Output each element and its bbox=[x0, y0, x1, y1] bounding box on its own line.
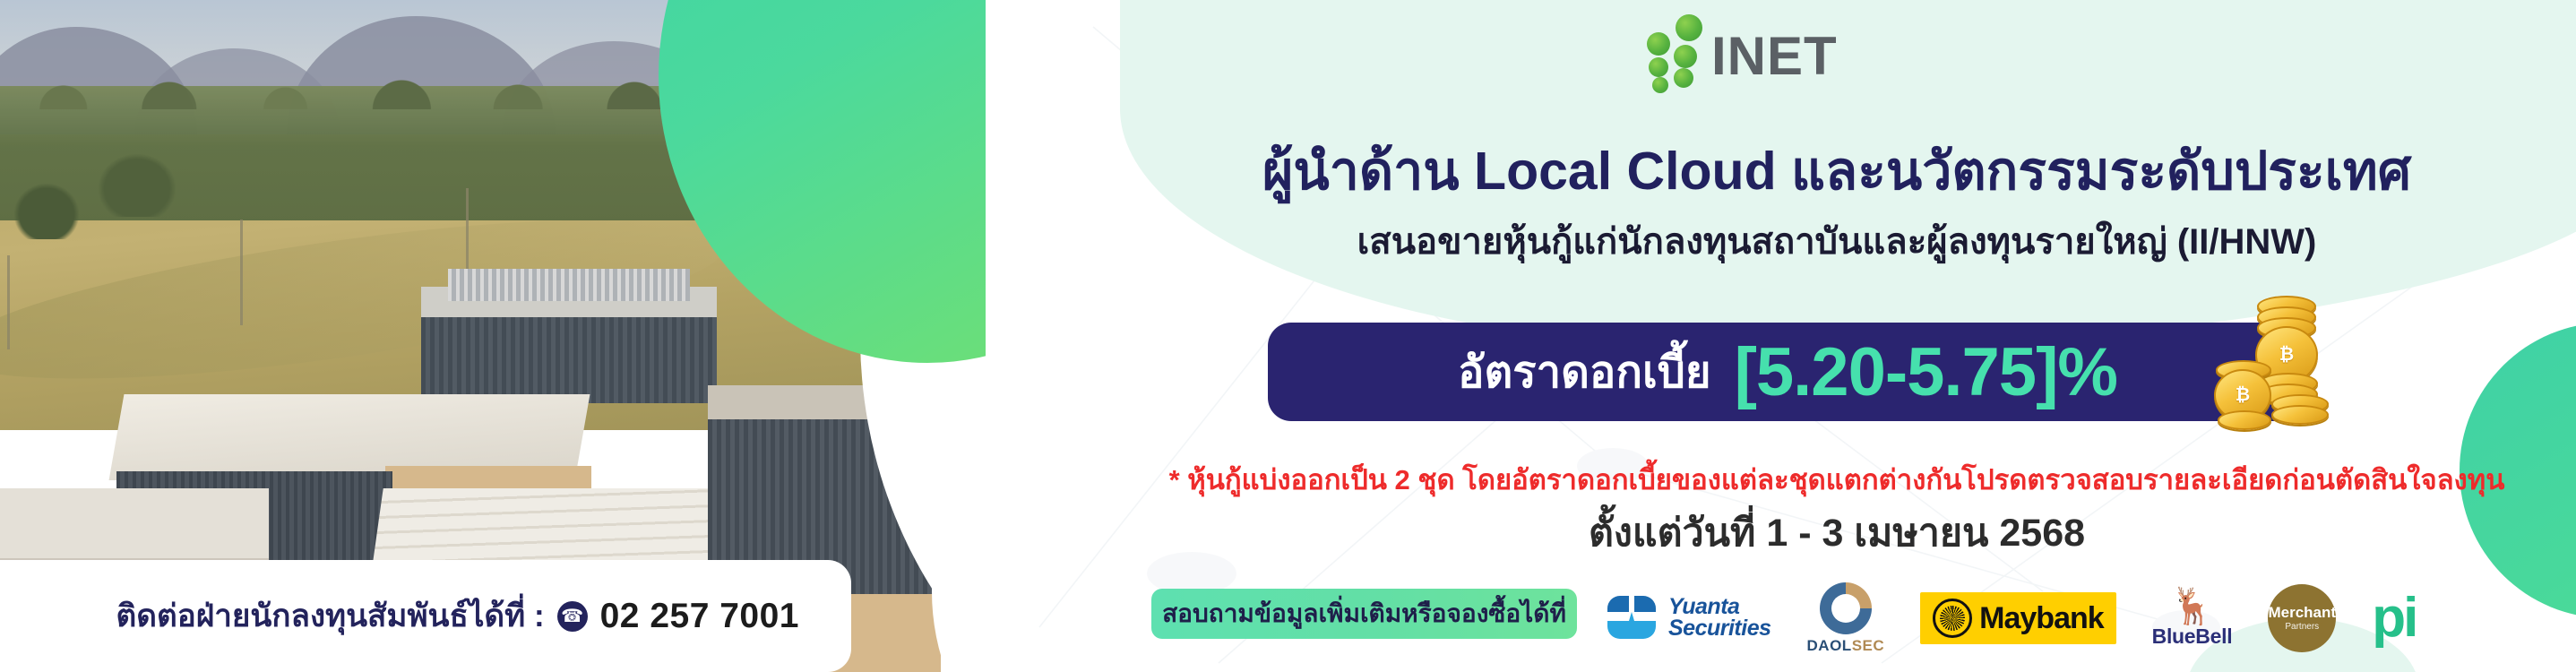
interest-rate-value: [5.20-5.75]% bbox=[1735, 333, 2117, 411]
cta-button[interactable]: สอบถามข้อมูลเพิ่มเติมหรือจองซื้อได้ที่ bbox=[1151, 589, 1577, 639]
bluebell-wordmark: BlueBell bbox=[2152, 625, 2233, 649]
partner-logo-bluebell[interactable]: 🦌 BlueBell bbox=[2152, 589, 2233, 649]
daol-word-daol: DAOL bbox=[1807, 637, 1852, 654]
partner-logo-row: Yuanta Securities DAOLSEC Maybank 🦌 Blue… bbox=[1604, 577, 2563, 659]
contact-label: ติดต่อฝ่ายนักลงทุนสัมพันธ์ได้ที่ : bbox=[116, 591, 545, 641]
photo-rooftop-equipment bbox=[448, 269, 690, 301]
daol-wordmark: DAOLSEC bbox=[1807, 637, 1885, 655]
photo-utility-pole bbox=[240, 220, 243, 325]
inet-dots-icon bbox=[1640, 13, 1710, 81]
inet-promo-banner: INET ผู้นำด้าน Local Cloud และนวัตกรรมระ… bbox=[0, 0, 2576, 672]
partner-logo-daol[interactable]: DAOLSEC bbox=[1807, 582, 1885, 655]
page-subtitle: เสนอขายหุ้นกู้แก่นักลงทุนสถาบันและผู้ลงท… bbox=[1165, 222, 2509, 262]
yuanta-wordmark: Yuanta Securities bbox=[1668, 597, 1771, 640]
photo-tree bbox=[99, 154, 176, 217]
merchant-line1: Merchant bbox=[2268, 605, 2336, 620]
yuanta-mark-icon bbox=[1604, 590, 1659, 646]
partner-logo-yuanta[interactable]: Yuanta Securities bbox=[1604, 590, 1771, 646]
bluebell-deer-icon: 🦌 bbox=[2170, 589, 2215, 625]
interest-rate-box: อัตราดอกเบี้ย [5.20-5.75]% bbox=[1268, 323, 2307, 421]
inet-wordmark: INET bbox=[1711, 31, 1838, 81]
partner-logo-merchant-partners[interactable]: Merchant Partners bbox=[2268, 584, 2336, 652]
photo-building-rear bbox=[421, 287, 717, 403]
offering-date-range: ตั้งแต่วันที่ 1 - 3 เมษายน 2568 bbox=[1165, 502, 2509, 563]
interest-rate-label: อัตราดอกเบี้ย bbox=[1458, 337, 1711, 407]
partner-logo-maybank[interactable]: Maybank bbox=[1920, 592, 2116, 644]
daol-word-sec: SEC bbox=[1852, 637, 1884, 654]
photo-tree bbox=[14, 184, 79, 239]
photo-utility-pole bbox=[7, 255, 10, 349]
disclaimer-text: * หุ้นกู้แบ่งออกเป็น 2 ชุด โดยอัตราดอกเบ… bbox=[1111, 457, 2563, 502]
maybank-wordmark: Maybank bbox=[1979, 601, 2104, 636]
inet-logo[interactable]: INET bbox=[1640, 13, 1838, 81]
gold-coins-icon: ₿ ₿ bbox=[2209, 296, 2356, 444]
yuanta-line2: Securities bbox=[1668, 618, 1771, 640]
investor-relations-contact: ติดต่อฝ่ายนักลงทุนสัมพันธ์ได้ที่ : ☎ 02 … bbox=[0, 560, 851, 672]
merchant-line2: Partners bbox=[2285, 622, 2319, 632]
daol-mark-icon bbox=[1820, 582, 1872, 634]
phone-icon: ☎ bbox=[557, 601, 588, 632]
contact-phone-number[interactable]: 02 257 7001 bbox=[600, 597, 799, 636]
page-title: ผู้นำด้าน Local Cloud และนวัตกรรมระดับปร… bbox=[1165, 143, 2509, 200]
partner-logo-pi[interactable]: pi bbox=[2372, 596, 2416, 641]
maybank-tiger-icon bbox=[1933, 599, 1972, 638]
